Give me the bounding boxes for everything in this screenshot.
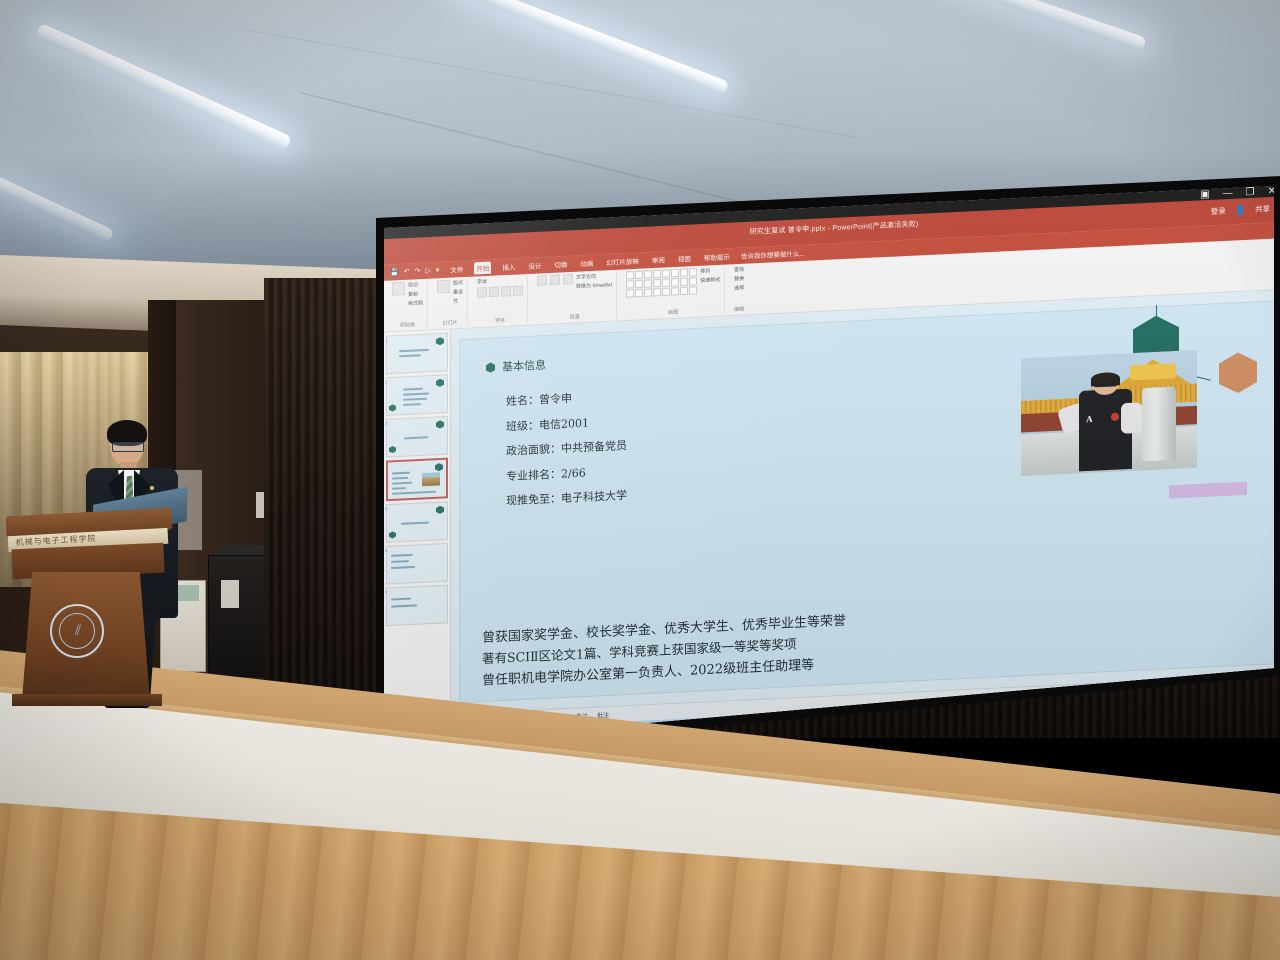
tab-help[interactable]: 帮助提示 xyxy=(702,250,732,264)
slide-thumbnail[interactable]: 7 xyxy=(386,585,448,627)
photo-right-sleeve xyxy=(1121,402,1142,434)
smartart-label[interactable]: 转换为 SmartArt xyxy=(576,281,612,290)
tab-view[interactable]: 视图 xyxy=(676,252,693,265)
tab-insert[interactable]: 插入 xyxy=(500,260,517,273)
honors-list[interactable]: 曾获国家奖学金、校长奖学金、优秀大学生、优秀毕业生等荣誉 著有SCIⅡ区论文1篇… xyxy=(482,589,1261,688)
quick-styles-label[interactable]: 快速样式 xyxy=(700,276,720,284)
lilac-accent-bar xyxy=(1169,482,1247,499)
zoom-level[interactable]: 115% xyxy=(1251,680,1266,687)
slide-title-text: 基本信息 xyxy=(502,357,546,375)
shape-gallery[interactable] xyxy=(626,268,697,298)
tab-file[interactable]: 文件 xyxy=(448,263,465,276)
ribbon-group-label: 段落 xyxy=(537,312,612,323)
hexagon-icon xyxy=(436,379,444,388)
new-slide-icon[interactable] xyxy=(437,280,450,294)
numbering-icon[interactable] xyxy=(550,275,560,286)
thumbnail-number: 6 xyxy=(385,548,387,553)
rack-label xyxy=(221,580,239,608)
photo-jacket-letter: A xyxy=(1086,414,1093,424)
share-label[interactable]: 共享 xyxy=(1255,203,1270,215)
ribbon-group-label: 剪贴板 xyxy=(392,321,423,330)
clock-date: 2024/6/14 xyxy=(1245,698,1269,705)
zoom-track[interactable] xyxy=(1178,684,1236,688)
account-area[interactable]: 登录 👤 共享 xyxy=(1211,203,1270,217)
tab-animations[interactable]: 动画 xyxy=(578,257,595,270)
school-emblem: ⫽ xyxy=(50,604,104,658)
ribbon-group-label: 幻灯片 xyxy=(437,319,463,327)
hexagon-icon xyxy=(389,531,396,538)
podium-base xyxy=(12,694,162,706)
hexagon-icon xyxy=(389,404,396,411)
arrange-label[interactable]: 排列 xyxy=(700,267,720,275)
replace-label[interactable]: 替换 xyxy=(734,275,744,283)
redo-icon[interactable]: ↷ xyxy=(415,267,421,275)
powerpoint-window: 研究生复试 曾令申.pptx - PowerPoint(产品激活失败) ▣ — … xyxy=(384,185,1280,746)
school-emblem-inner: ⫽ xyxy=(59,613,95,649)
system-tray[interactable]: ^ ☉ ♫ 16:45 2024/6/14 ☐ xyxy=(1215,691,1280,706)
cut-label[interactable]: 剪切 xyxy=(408,281,423,289)
person-add-icon: 👤 xyxy=(1235,204,1246,216)
hexagon-icon xyxy=(435,463,443,472)
thumbnail-photo xyxy=(422,472,440,486)
tab-review[interactable]: 审阅 xyxy=(650,253,667,266)
ribbon-group-slides[interactable]: 版式 重设 节 幻灯片 xyxy=(433,279,468,327)
ribbon-group-drawing[interactable]: 排列 快速样式 绘图 xyxy=(622,267,725,319)
thumbnail-number: 5 xyxy=(385,506,387,511)
restore-icon[interactable]: ❐ xyxy=(1246,188,1255,199)
info-political-status: 政治面貌：中共预备党员 xyxy=(506,437,627,459)
hexagon-icon xyxy=(436,506,444,515)
save-icon[interactable]: 💾 xyxy=(390,268,399,277)
thumbnail-number: 4 xyxy=(386,464,388,469)
quick-access-toolbar[interactable]: 💾 ↶ ↷ ▷ ▾ xyxy=(390,266,439,276)
volume-icon[interactable]: ♫ xyxy=(1234,696,1238,702)
tab-transitions[interactable]: 切换 xyxy=(552,258,569,271)
paste-icon[interactable] xyxy=(392,282,405,296)
tab-home[interactable]: 开始 xyxy=(474,262,491,275)
current-slide[interactable]: 基本信息 姓名：曾令申 班级：电信2001 政治面貌：中共预备党员 专业排名：2… xyxy=(459,301,1276,703)
decoration-line xyxy=(1156,305,1157,317)
chevron-up-icon[interactable]: ^ xyxy=(1215,697,1218,703)
thumbnail-number: 7 xyxy=(385,590,387,595)
projection-display: 研究生复试 曾令申.pptx - PowerPoint(产品激活失败) ▣ — … xyxy=(352,176,1280,776)
ribbon-group-label: 编辑 xyxy=(734,305,744,313)
network-icon[interactable]: ☉ xyxy=(1224,696,1229,702)
lapel-pin-icon xyxy=(150,486,154,490)
notification-icon[interactable]: ☐ xyxy=(1275,694,1280,700)
start-slideshow-icon[interactable]: ▷ xyxy=(425,266,430,274)
glasses-icon xyxy=(112,442,144,452)
ribbon-group-font[interactable]: 字体 字体 xyxy=(473,276,528,325)
lecture-hall-scene: 研究生复试 曾令申.pptx - PowerPoint(产品激活失败) ▣ — … xyxy=(0,0,1280,960)
emblem-mark: ⫽ xyxy=(75,623,79,639)
editor-body: 1 2 xyxy=(384,290,1280,717)
font-name-box[interactable]: 字体 xyxy=(477,276,523,285)
thumbnail-number: 1 xyxy=(385,338,387,343)
thumbnail-number: 3 xyxy=(385,421,387,426)
slide-thumbnail[interactable]: 3 xyxy=(386,416,448,458)
bold-icon[interactable] xyxy=(477,287,487,298)
photo-stone-pillar xyxy=(1142,387,1175,462)
slide-thumbnail[interactable]: 5 xyxy=(386,501,448,543)
zoom-knob[interactable] xyxy=(1206,683,1208,690)
hexagon-orange-decoration xyxy=(1219,352,1257,394)
tell-me-box[interactable]: 告诉我你想要做什么... xyxy=(741,248,805,261)
underline-icon[interactable] xyxy=(501,286,511,297)
format-painter-label[interactable]: 格式刷 xyxy=(408,299,423,307)
zoom-in-icon[interactable]: + xyxy=(1239,681,1243,687)
layout-label[interactable]: 版式 xyxy=(453,279,463,287)
info-major-rank: 专业排名：2/66 xyxy=(506,462,627,484)
slide-thumbnail[interactable]: 6 xyxy=(386,543,448,585)
ribbon-group-editing[interactable]: 查找 替换 选择 编辑 xyxy=(730,266,748,314)
italic-icon[interactable] xyxy=(489,287,499,298)
bullets-icon[interactable] xyxy=(537,275,547,286)
slide-thumbnail[interactable]: 1 xyxy=(386,333,448,375)
ribbon-group-label: 字体 xyxy=(477,316,523,325)
fit-to-window-icon[interactable]: ⛶ xyxy=(1274,679,1278,686)
thumbnail-figure xyxy=(433,594,441,611)
ribbon-display-options-icon[interactable]: ▣ xyxy=(1200,190,1209,201)
text-direction-label[interactable]: 文字方向 xyxy=(576,272,612,281)
customize-icon[interactable]: ▾ xyxy=(436,266,440,274)
slide-canvas[interactable]: 基本信息 姓名：曾令申 班级：电信2001 政治面貌：中共预备党员 专业排名：2… xyxy=(451,290,1280,714)
slide-thumbnail-selected[interactable]: 4 xyxy=(386,458,448,502)
sign-in-label[interactable]: 登录 xyxy=(1211,205,1226,217)
undo-icon[interactable]: ↶ xyxy=(404,267,410,275)
find-label[interactable]: 查找 xyxy=(734,266,744,274)
basic-info-list[interactable]: 姓名：曾令申 班级：电信2001 政治面貌：中共预备党员 专业排名：2/66 现… xyxy=(506,388,627,510)
clock-time: 16:45 xyxy=(1245,692,1269,699)
font-color-icon[interactable] xyxy=(513,285,523,296)
slide-thumbnail-pane[interactable]: 1 2 xyxy=(384,329,451,716)
slide-thumbnail[interactable]: 2 xyxy=(386,374,448,416)
ribbon-group-paragraph[interactable]: 文字方向 转换为 SmartArt 段落 xyxy=(533,272,617,323)
ribbon-group-clipboard[interactable]: 剪切 复制 格式刷 剪贴板 xyxy=(388,281,428,330)
thumbnail-number: 2 xyxy=(385,379,387,384)
photo-gold-ornament xyxy=(1130,363,1176,380)
select-label[interactable]: 选择 xyxy=(734,284,744,292)
thumbnail-figure xyxy=(433,552,441,569)
hexagon-icon xyxy=(436,420,444,429)
info-name: 姓名：曾令申 xyxy=(506,388,627,410)
hexagon-bullet-icon xyxy=(486,362,495,373)
section-label[interactable]: 节 xyxy=(453,297,463,305)
student-photo[interactable]: A xyxy=(1021,350,1197,476)
podium: 机械与电子工程学院 ⫽ xyxy=(6,512,172,702)
info-class: 班级：电信2001 xyxy=(506,412,627,434)
hexagon-icon xyxy=(389,446,396,453)
align-icon[interactable] xyxy=(563,274,573,285)
slide-title[interactable]: 基本信息 xyxy=(486,357,546,376)
clock[interactable]: 16:45 2024/6/14 xyxy=(1245,692,1269,705)
display-screen: 研究生复试 曾令申.pptx - PowerPoint(产品激活失败) ▣ — … xyxy=(352,176,1280,756)
tab-design[interactable]: 设计 xyxy=(526,259,543,272)
reset-label[interactable]: 重设 xyxy=(453,288,463,296)
info-recommended-school: 现推免至：电子科技大学 xyxy=(506,487,627,509)
minimize-icon[interactable]: — xyxy=(1223,189,1233,200)
tab-slideshow[interactable]: 幻灯片放映 xyxy=(604,254,641,268)
copy-label[interactable]: 复制 xyxy=(408,290,423,298)
hexagon-icon xyxy=(436,337,444,346)
